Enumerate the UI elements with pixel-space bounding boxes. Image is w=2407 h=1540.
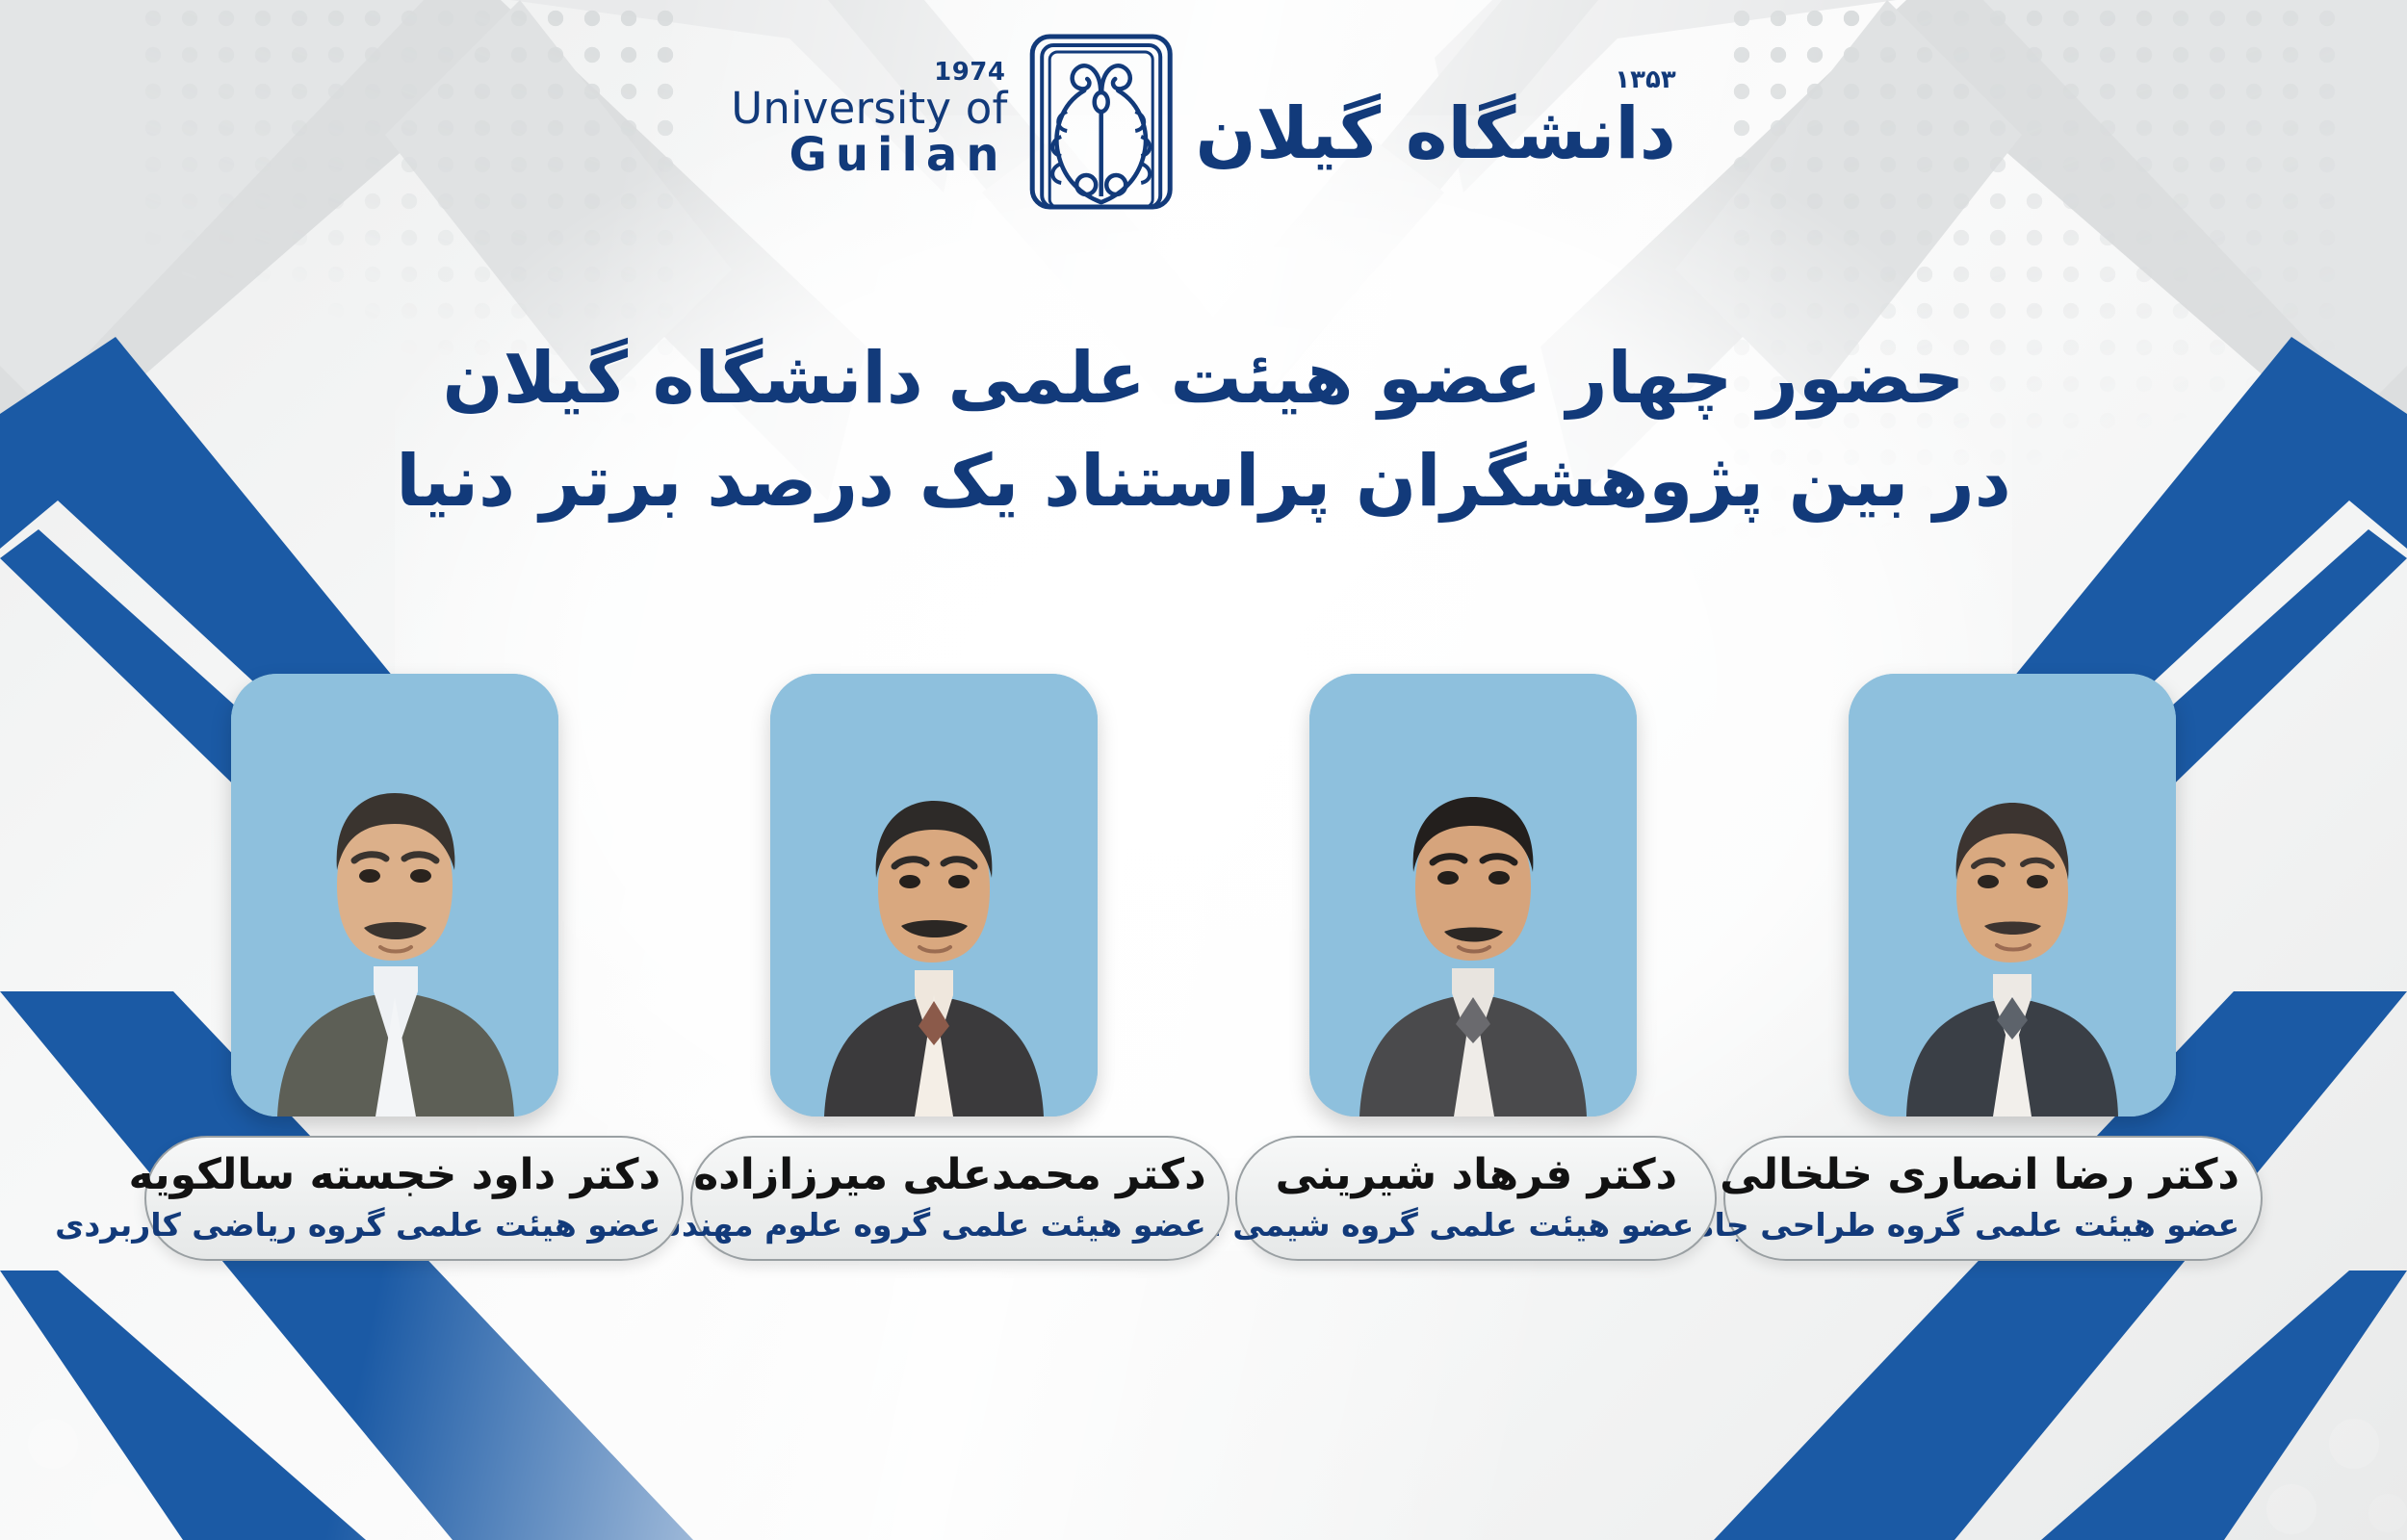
logo-university-name-persian: دانشگاه گیلان bbox=[1195, 98, 1675, 169]
person-role: عضو هیئت علمی گروه علوم مهندسی bbox=[713, 1206, 1206, 1245]
person-role: عضو هیئت علمی گروه ریاضی کاربردی bbox=[168, 1206, 660, 1245]
poster-canvas: 1974 University of Guilan bbox=[0, 0, 2407, 1540]
logo-year-persian: ۱۳۵۳ bbox=[1615, 65, 1675, 94]
person-name: دکتر فرهاد شیرینی bbox=[1258, 1151, 1694, 1200]
logo-university-word: University of bbox=[731, 87, 1007, 130]
portrait-image bbox=[1309, 674, 1637, 1116]
headline-line-1: حضور چهار عضو هیئت علمی دانشگاه گیلان bbox=[193, 327, 2214, 430]
portrait-reza-ansari-khalkhali[interactable] bbox=[1849, 674, 2176, 1116]
person-name: دکتر داود خجسته سالکویه bbox=[168, 1151, 660, 1200]
person-role: عضو هیئت علمی گروه طراحی جامدات bbox=[1747, 1206, 2239, 1245]
logo-persian-text: ۱۳۵۳ دانشگاه گیلان bbox=[1195, 65, 1675, 179]
person-role: عضو هیئت علمی گروه شیمی آلی bbox=[1258, 1206, 1694, 1245]
person-name: دکتر محمدعلی میرزازاده bbox=[713, 1151, 1206, 1200]
portrait-image bbox=[231, 674, 558, 1116]
person-name: دکتر رضا انصاری خلخالی bbox=[1747, 1151, 2239, 1200]
portrait-mohammadali-mirzazadeh[interactable] bbox=[770, 674, 1098, 1116]
name-card-reza-ansari-khalkhali[interactable]: دکتر رضا انصاری خلخالی عضو هیئت علمی گرو… bbox=[1723, 1136, 2263, 1261]
portrait-farhad-shirini[interactable] bbox=[1309, 674, 1637, 1116]
logo-english-text: 1974 University of Guilan bbox=[731, 60, 1007, 184]
name-label-row: دکتر رضا انصاری خلخالی عضو هیئت علمی گرو… bbox=[144, 1136, 2263, 1261]
name-card-davood-khojasteh-salkuyeh[interactable]: دکتر داود خجسته سالکویه عضو هیئت علمی گر… bbox=[144, 1136, 684, 1261]
portrait-row bbox=[231, 674, 2176, 1116]
portrait-image bbox=[770, 674, 1098, 1116]
logo-year-english: 1974 bbox=[934, 60, 1005, 85]
name-card-farhad-shirini[interactable]: دکتر فرهاد شیرینی عضو هیئت علمی گروه شیم… bbox=[1235, 1136, 1717, 1261]
university-logo[interactable]: 1974 University of Guilan bbox=[731, 33, 1676, 211]
name-card-mohammadali-mirzazadeh[interactable]: دکتر محمدعلی میرزازاده عضو هیئت علمی گرو… bbox=[690, 1136, 1229, 1261]
page-title: حضور چهار عضو هیئت علمی دانشگاه گیلان در… bbox=[193, 327, 2214, 534]
guilan-university-crest-icon bbox=[1017, 33, 1185, 211]
portrait-image bbox=[1849, 674, 2176, 1116]
portrait-davood-khojasteh-salkuyeh[interactable] bbox=[231, 674, 558, 1116]
headline-line-2: در بین پژوهشگران پراستناد یک درصد برتر د… bbox=[193, 430, 2214, 533]
logo-guilan-word: Guilan bbox=[789, 132, 1007, 178]
